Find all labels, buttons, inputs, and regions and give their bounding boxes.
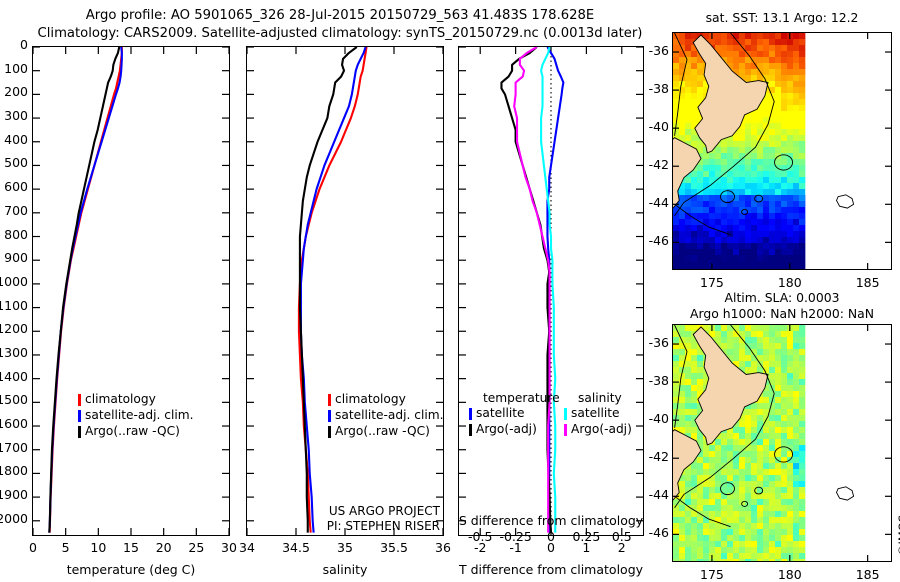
difference-panel (458, 46, 644, 536)
sla-lat-tick--44: -44 (649, 487, 669, 502)
difference-s-label: S difference from climatology (459, 513, 643, 528)
depth-tick-1600: 1600 (0, 416, 28, 431)
legend-header-salinity: salinity (578, 391, 622, 405)
temperature-panel (32, 46, 230, 536)
legend-label-1: satellite-adj. clim. (85, 408, 194, 422)
depth-tick-1100: 1100 (0, 298, 28, 313)
sst-lon-tick-185: 185 (856, 275, 880, 290)
depth-tick-1900: 1900 (0, 487, 28, 502)
legend-swatch-sal-2 (328, 426, 331, 438)
salinity-xtick-34.5: 34.5 (282, 540, 310, 555)
temperature-xtick-25: 25 (188, 540, 204, 555)
depth-tick-200: 200 (4, 84, 28, 99)
difference-t-label: T difference from climatology (459, 562, 643, 577)
legend-label-sdiff-0: satellite (571, 406, 620, 420)
tdiff-xtick-3: 1 (582, 540, 590, 555)
legend-swatch-0 (78, 394, 81, 406)
sst-lat-tick--36: -36 (649, 43, 669, 58)
sst-map-panel (672, 32, 892, 270)
legend-label-tdiff-1: Argo(-adj) (476, 422, 537, 436)
sst-lat-tick--38: -38 (649, 81, 669, 96)
legend-label-sal-1: satellite-adj. clim. (335, 408, 444, 422)
project-label: US ARGO PROJECT (329, 504, 440, 518)
legend-label-sal-2: Argo(..raw -QC) (335, 424, 430, 438)
sla-lat-tick--40: -40 (649, 411, 669, 426)
tdiff-xtick-4: 2 (618, 540, 626, 555)
page-title-line1: Argo profile: AO 5901065_326 28-Jul-2015… (86, 8, 595, 23)
sst-map-title: sat. SST: 13.1 Argo: 12.2 (706, 10, 859, 25)
temperature-xtick-15: 15 (123, 540, 139, 555)
tdiff-xtick-2: 0 (547, 540, 555, 555)
legend-swatch-sdiff-1 (564, 424, 567, 436)
depth-tick-300: 300 (4, 108, 28, 123)
depth-tick-700: 700 (4, 203, 28, 218)
depth-tick-1200: 1200 (0, 321, 28, 336)
depth-tick-600: 600 (4, 179, 28, 194)
copyright-label: ©IMOS 06-Aug-2015 20:40:17 (896, 504, 900, 556)
depth-tick-0: 0 (20, 37, 28, 52)
sla-lat-tick--36: -36 (649, 335, 669, 350)
page-title-line2: Climatology: CARS2009. Satellite-adjuste… (38, 26, 643, 41)
legend-label-2: Argo(..raw -QC) (85, 424, 180, 438)
legend-label-0: climatology (85, 392, 156, 406)
depth-tick-1400: 1400 (0, 369, 28, 384)
legend-swatch-2 (78, 426, 81, 438)
sla-map-title-line1: Altim. SLA: 0.0003 (725, 290, 840, 305)
sla-lat-tick--46: -46 (649, 525, 669, 540)
legend-swatch-1 (78, 410, 81, 422)
salinity-xtick-35: 35 (337, 540, 353, 555)
sla-map-title-line2: Argo h1000: NaN h2000: NaN (690, 306, 874, 321)
sst-lat-tick--42: -42 (649, 157, 669, 172)
legend-swatch-tdiff-1 (469, 424, 472, 436)
sst-lat-tick--46: -46 (649, 233, 669, 248)
tdiff-xtick-1: -1 (509, 540, 521, 555)
legend-header-temperature: temperature (483, 391, 560, 405)
legend-swatch-sdiff-0 (564, 408, 567, 420)
sst-lat-tick--40: -40 (649, 119, 669, 134)
depth-tick-1500: 1500 (0, 392, 28, 407)
sla-map-panel (672, 324, 892, 562)
depth-tick-1000: 1000 (0, 274, 28, 289)
depth-tick-500: 500 (4, 155, 28, 170)
temperature-xtick-20: 20 (156, 540, 172, 555)
tdiff-xtick-0: -2 (474, 540, 486, 555)
legend-swatch-sal-1 (328, 410, 331, 422)
salinity-x-label: salinity (323, 562, 368, 577)
temperature-xtick-0: 0 (29, 540, 37, 555)
sst-lon-tick-180: 180 (778, 275, 802, 290)
depth-tick-2000: 2000 (0, 511, 28, 526)
depth-tick-100: 100 (4, 61, 28, 76)
depth-tick-400: 400 (4, 132, 28, 147)
legend-swatch-sal-0 (328, 394, 331, 406)
salinity-xtick-36: 36 (435, 540, 451, 555)
sla-lat-tick--38: -38 (649, 373, 669, 388)
depth-tick-1700: 1700 (0, 440, 28, 455)
depth-tick-800: 800 (4, 227, 28, 242)
sst-lon-tick-175: 175 (700, 275, 724, 290)
temperature-x-label: temperature (deg C) (67, 562, 196, 577)
depth-tick-1300: 1300 (0, 345, 28, 360)
pi-label: PI: STEPHEN RISER (327, 519, 440, 533)
depth-tick-1800: 1800 (0, 463, 28, 478)
sst-lat-tick--44: -44 (649, 195, 669, 210)
temperature-xtick-5: 5 (62, 540, 70, 555)
salinity-panel (246, 46, 444, 536)
legend-swatch-tdiff-0 (469, 408, 472, 420)
depth-tick-900: 900 (4, 250, 28, 265)
salinity-xtick-34: 34 (239, 540, 255, 555)
temperature-xtick-10: 10 (90, 540, 106, 555)
salinity-xtick-35.5: 35.5 (380, 540, 408, 555)
legend-label-sal-0: climatology (335, 392, 406, 406)
temperature-xtick-30: 30 (221, 540, 237, 555)
sla-lat-tick--42: -42 (649, 449, 669, 464)
legend-label-sdiff-1: Argo(-adj) (571, 422, 632, 436)
legend-label-tdiff-0: satellite (476, 406, 525, 420)
